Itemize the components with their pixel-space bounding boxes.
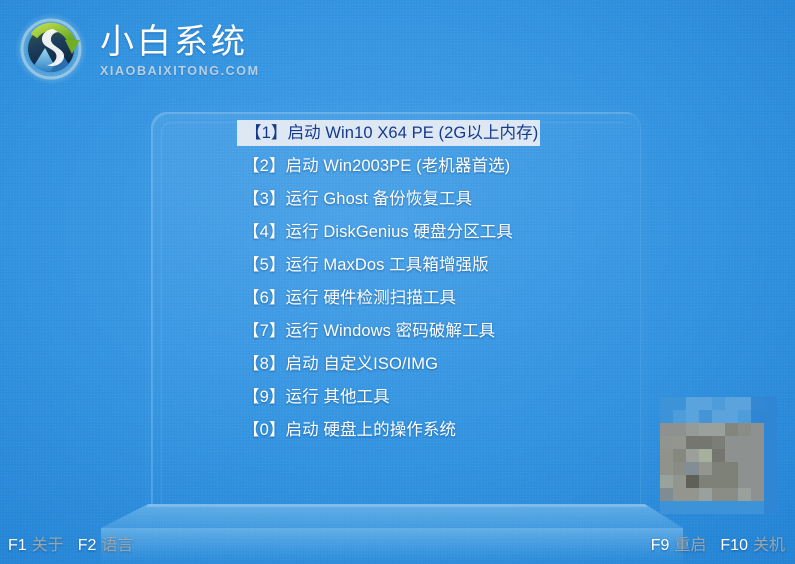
mosaic-tile [660, 423, 673, 436]
mosaic-tile [764, 436, 777, 449]
mosaic-tile [660, 475, 673, 488]
mosaic-tile [764, 462, 777, 475]
mosaic-tile [751, 423, 764, 436]
boot-menu-item-2[interactable]: 【2】启动 Win2003PE (老机器首选) [237, 153, 547, 179]
mosaic-tile [725, 475, 738, 488]
mosaic-tile [738, 436, 751, 449]
mosaic-tile [660, 397, 673, 410]
mosaic-tile [712, 501, 725, 514]
mosaic-tile [751, 449, 764, 462]
function-key-f10[interactable]: F10 [720, 537, 748, 554]
mosaic-tile [751, 397, 764, 410]
mosaic-tile [699, 436, 712, 449]
boot-menu-item-1[interactable]: 【1】启动 Win10 X64 PE (2G以上内存) [237, 120, 540, 146]
mosaic-tile [712, 436, 725, 449]
boot-menu-list[interactable]: 【1】启动 Win10 X64 PE (2G以上内存)【2】启动 Win2003… [237, 120, 547, 450]
mosaic-tile [660, 436, 673, 449]
boot-menu-item-5[interactable]: 【5】运行 MaxDos 工具箱增强版 [237, 252, 547, 278]
mosaic-tile [660, 462, 673, 475]
mosaic-tile [738, 462, 751, 475]
mosaic-tile [686, 436, 699, 449]
mosaic-tile [673, 475, 686, 488]
function-key-f2[interactable]: F2 [78, 537, 97, 554]
mosaic-tile [699, 397, 712, 410]
brand-title: 小白系统 [100, 24, 260, 61]
function-key-label-f9[interactable]: 重启 [674, 537, 706, 554]
mosaic-tile [764, 475, 777, 488]
mosaic-tile [699, 410, 712, 423]
boot-menu-item-4[interactable]: 【4】运行 DiskGenius 硬盘分区工具 [237, 219, 547, 245]
mosaic-tile [686, 475, 699, 488]
mosaic-tile [673, 410, 686, 423]
mosaic-tile [686, 462, 699, 475]
mosaic-tile [686, 397, 699, 410]
boot-menu-item-9[interactable]: 【9】运行 其他工具 [237, 384, 547, 410]
brand-subtitle: XIAOBAIXITONG.COM [100, 64, 260, 78]
mosaic-tile [686, 423, 699, 436]
mosaic-tile [699, 449, 712, 462]
function-key-label-f10[interactable]: 关机 [753, 537, 785, 554]
boot-menu-item-8[interactable]: 【8】启动 自定义ISO/IMG [237, 351, 547, 377]
mosaic-tile [725, 436, 738, 449]
mosaic-tile [764, 410, 777, 423]
mosaic-tile [738, 475, 751, 488]
mosaic-tile [751, 462, 764, 475]
mosaic-tile [699, 475, 712, 488]
boot-menu-item-7[interactable]: 【7】运行 Windows 密码破解工具 [237, 318, 547, 344]
mosaic-tile [686, 449, 699, 462]
mosaic-tile [751, 436, 764, 449]
boot-menu-item-3[interactable]: 【3】运行 Ghost 备份恢复工具 [237, 186, 547, 212]
mosaic-tile [699, 462, 712, 475]
mosaic-tile [764, 488, 777, 501]
mosaic-tile [725, 397, 738, 410]
mosaic-tile [673, 436, 686, 449]
mosaic-tile [673, 397, 686, 410]
mosaic-tile [673, 488, 686, 501]
mosaic-tile [686, 410, 699, 423]
mosaic-tile [738, 410, 751, 423]
mosaic-tile [712, 397, 725, 410]
mosaic-tile [673, 462, 686, 475]
mosaic-tile [751, 410, 764, 423]
mosaic-tile [725, 423, 738, 436]
mosaic-tile [660, 449, 673, 462]
boot-menu-screen: 小白系统 XIAOBAIXITONG.COM 【1】启动 Win10 X64 P… [0, 0, 795, 564]
boot-menu-item-0[interactable]: 【0】启动 硬盘上的操作系统 [237, 417, 547, 443]
mosaic-tile [712, 462, 725, 475]
mosaic-tile [699, 423, 712, 436]
function-key-label-f1[interactable]: 关于 [32, 537, 64, 554]
mosaic-tile [738, 488, 751, 501]
brand-logo-text: 小白系统 XIAOBAIXITONG.COM [100, 20, 260, 78]
function-bar-left: F1关于F2语言 [8, 536, 133, 556]
mosaic-tile [764, 449, 777, 462]
mosaic-tile [738, 449, 751, 462]
mosaic-tile [660, 501, 673, 514]
mosaic-tile [738, 397, 751, 410]
mosaic-tile [712, 475, 725, 488]
function-bar-right: F9重启F10关机 [651, 536, 785, 556]
mosaic-tile [764, 501, 777, 514]
pixelated-censored-block [660, 397, 777, 513]
brand-logo: 小白系统 XIAOBAIXITONG.COM [12, 10, 260, 88]
mosaic-tile [673, 423, 686, 436]
mosaic-tile [725, 462, 738, 475]
mosaic-tile [725, 410, 738, 423]
mosaic-tile [712, 449, 725, 462]
mosaic-tile [712, 423, 725, 436]
mosaic-tile [673, 501, 686, 514]
mosaic-tile [699, 501, 712, 514]
mosaic-tile [686, 501, 699, 514]
mosaic-tile [673, 449, 686, 462]
mosaic-tile [725, 449, 738, 462]
mosaic-tile [660, 410, 673, 423]
function-key-f1[interactable]: F1 [8, 537, 27, 554]
function-key-label-f2[interactable]: 语言 [101, 537, 133, 554]
function-key-f9[interactable]: F9 [651, 537, 670, 554]
mosaic-tile [764, 423, 777, 436]
mosaic-tile [751, 488, 764, 501]
mosaic-tile [738, 501, 751, 514]
mosaic-tile [660, 488, 673, 501]
boot-menu-item-6[interactable]: 【6】运行 硬件检测扫描工具 [237, 285, 547, 311]
mosaic-tile [751, 475, 764, 488]
mosaic-tile [764, 397, 777, 410]
refresh-circle-logo-icon [12, 10, 90, 88]
mosaic-tile [751, 501, 764, 514]
mosaic-tile [712, 410, 725, 423]
mosaic-tile [712, 488, 725, 501]
mosaic-tile [725, 488, 738, 501]
mosaic-tile [686, 488, 699, 501]
mosaic-tile [725, 501, 738, 514]
mosaic-tile [699, 488, 712, 501]
mosaic-tile [738, 423, 751, 436]
